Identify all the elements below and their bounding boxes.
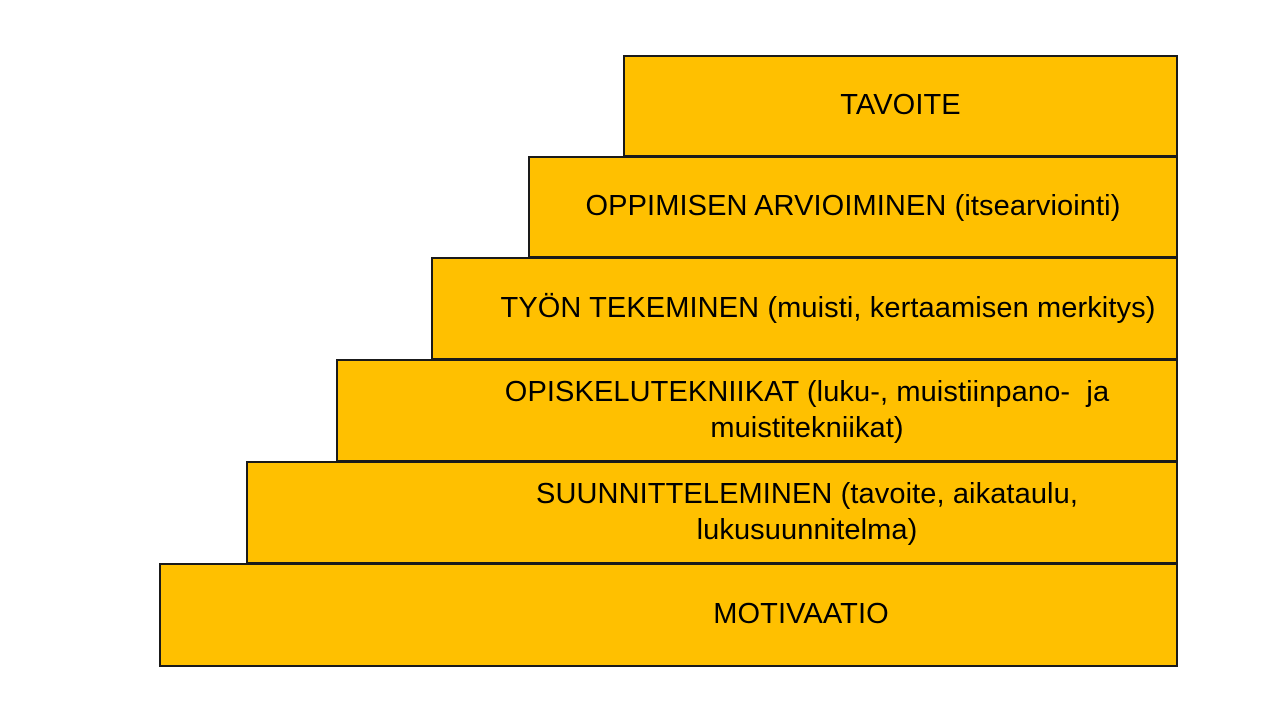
step-text-frame: MOTIVAATIO <box>426 597 1176 632</box>
staircase-step-label: OPPIMISEN ARVIOIMINEN (itsearviointi) <box>578 189 1129 224</box>
step-text-frame: SUUNNITTELEMINEN (tavoite, aikataulu, lu… <box>438 477 1176 548</box>
step-text-frame: TAVOITE <box>625 88 1176 123</box>
staircase-step-tyon-tekeminen[interactable]: TYÖN TEKEMINEN (muisti, kertaamisen merk… <box>431 257 1178 360</box>
staircase-step-motivaatio[interactable]: MOTIVAATIO <box>159 563 1178 667</box>
staircase-step-oppimisen-arvioiminen[interactable]: OPPIMISEN ARVIOIMINEN (itsearviointi) <box>528 156 1178 258</box>
step-text-frame: OPPIMISEN ARVIOIMINEN (itsearviointi) <box>530 189 1176 224</box>
staircase-step-label: TYÖN TEKEMINEN (muisti, kertaamisen merk… <box>493 291 1164 326</box>
staircase-step-label: OPISKELUTEKNIIKAT (luku-, muistiinpano- … <box>438 375 1176 446</box>
step-text-frame: OPISKELUTEKNIIKAT (luku-, muistiinpano- … <box>438 375 1176 446</box>
staircase-step-label: MOTIVAATIO <box>705 597 897 632</box>
step-text-frame: TYÖN TEKEMINEN (muisti, kertaamisen merk… <box>480 291 1176 326</box>
staircase-step-suunnitteleminen[interactable]: SUUNNITTELEMINEN (tavoite, aikataulu, lu… <box>246 461 1178 564</box>
staircase-step-tavoite[interactable]: TAVOITE <box>623 55 1178 157</box>
staircase-step-label: TAVOITE <box>832 88 968 123</box>
staircase-diagram: TAVOITE OPPIMISEN ARVIOIMINEN (itsearvio… <box>0 0 1280 720</box>
staircase-step-label: SUUNNITTELEMINEN (tavoite, aikataulu, lu… <box>438 477 1176 548</box>
staircase-step-opiskelutekniikat[interactable]: OPISKELUTEKNIIKAT (luku-, muistiinpano- … <box>336 359 1178 462</box>
